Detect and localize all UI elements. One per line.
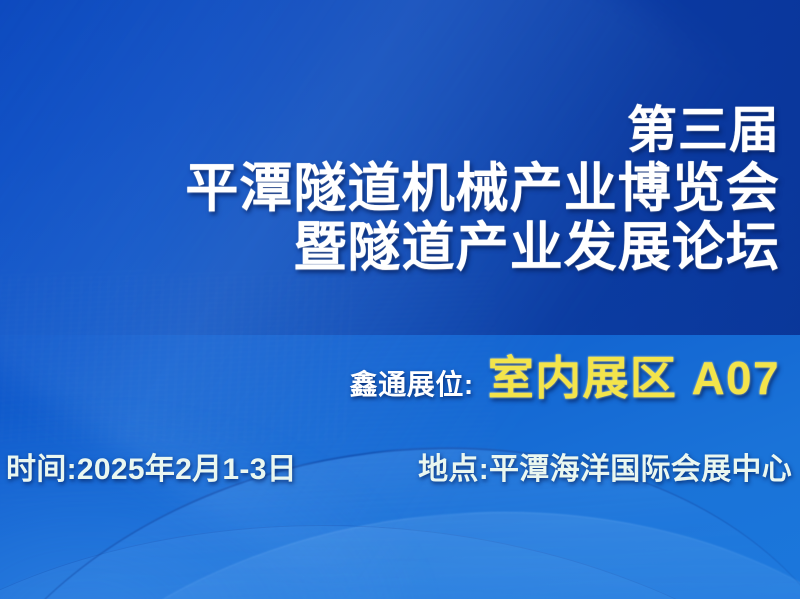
event-venue: 地点:平潭海洋国际会展中心 [418, 444, 792, 488]
title-line-main: 平潭隧道机械产业博览会 [185, 161, 780, 217]
title-line-forum: 暨隧道产业发展论坛 [185, 220, 780, 276]
booth-label: 鑫通展位: [350, 363, 474, 403]
event-date: 时间:2025年2月1-3日 [6, 444, 297, 488]
booth-number: 室内展区 A07 [488, 342, 780, 408]
exhibition-poster: 第三届 平潭隧道机械产业博览会 暨隧道产业发展论坛 鑫通展位: 室内展区 A07… [0, 0, 800, 599]
poster-content: 第三届 平潭隧道机械产业博览会 暨隧道产业发展论坛 鑫通展位: 室内展区 A07… [0, 0, 800, 599]
poster-title-block: 第三届 平潭隧道机械产业博览会 暨隧道产业发展论坛 [185, 104, 780, 276]
booth-row: 鑫通展位: 室内展区 A07 [350, 342, 780, 408]
title-line-edition: 第三届 [185, 104, 780, 157]
event-info-row: 时间:2025年2月1-3日 地点:平潭海洋国际会展中心 [6, 444, 792, 488]
